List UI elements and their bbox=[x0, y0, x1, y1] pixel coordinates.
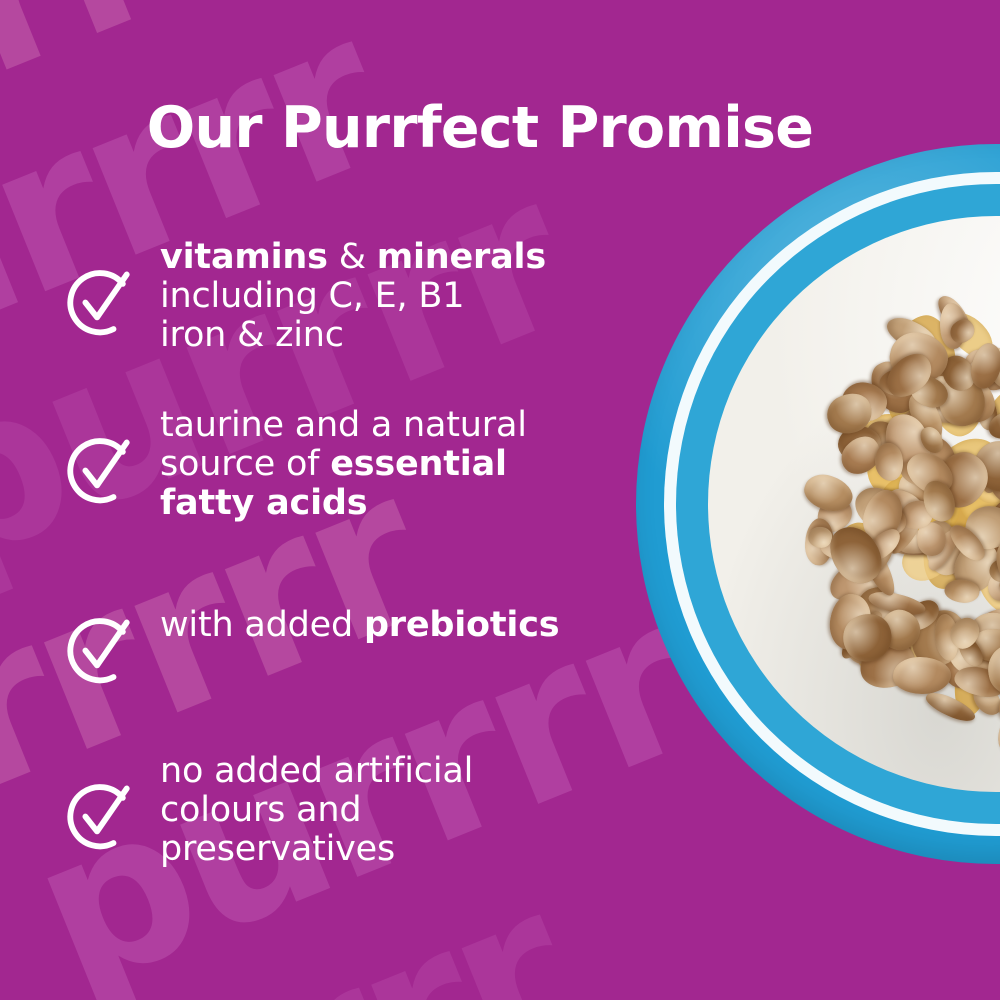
food-chunks bbox=[766, 246, 1000, 792]
check-circle-icon bbox=[62, 430, 140, 508]
check-circle-icon bbox=[62, 262, 140, 340]
list-item-label: no added artificialcolours andpreservati… bbox=[160, 750, 473, 870]
list-item-label: with added prebiotics bbox=[160, 604, 559, 645]
promise-poster: rrrrr purrrr purrrr rrrrrr purrrr rrrrrr… bbox=[0, 0, 1000, 1000]
list-item: taurine and a naturalsource of essential… bbox=[62, 404, 622, 524]
list-item: with added prebiotics bbox=[62, 604, 622, 688]
list-item: vitamins & mineralsincluding C, E, B1iro… bbox=[62, 236, 622, 356]
check-circle-icon bbox=[62, 610, 140, 688]
cat-food-bowl bbox=[636, 144, 1000, 864]
list-item-label: taurine and a naturalsource of essential… bbox=[160, 404, 527, 524]
check-circle-icon bbox=[62, 776, 140, 854]
food-chunk bbox=[892, 656, 951, 694]
benefits-list: vitamins & mineralsincluding C, E, B1iro… bbox=[0, 0, 640, 1000]
list-item: no added artificialcolours andpreservati… bbox=[62, 750, 622, 870]
list-item-label: vitamins & mineralsincluding C, E, B1iro… bbox=[160, 236, 546, 356]
